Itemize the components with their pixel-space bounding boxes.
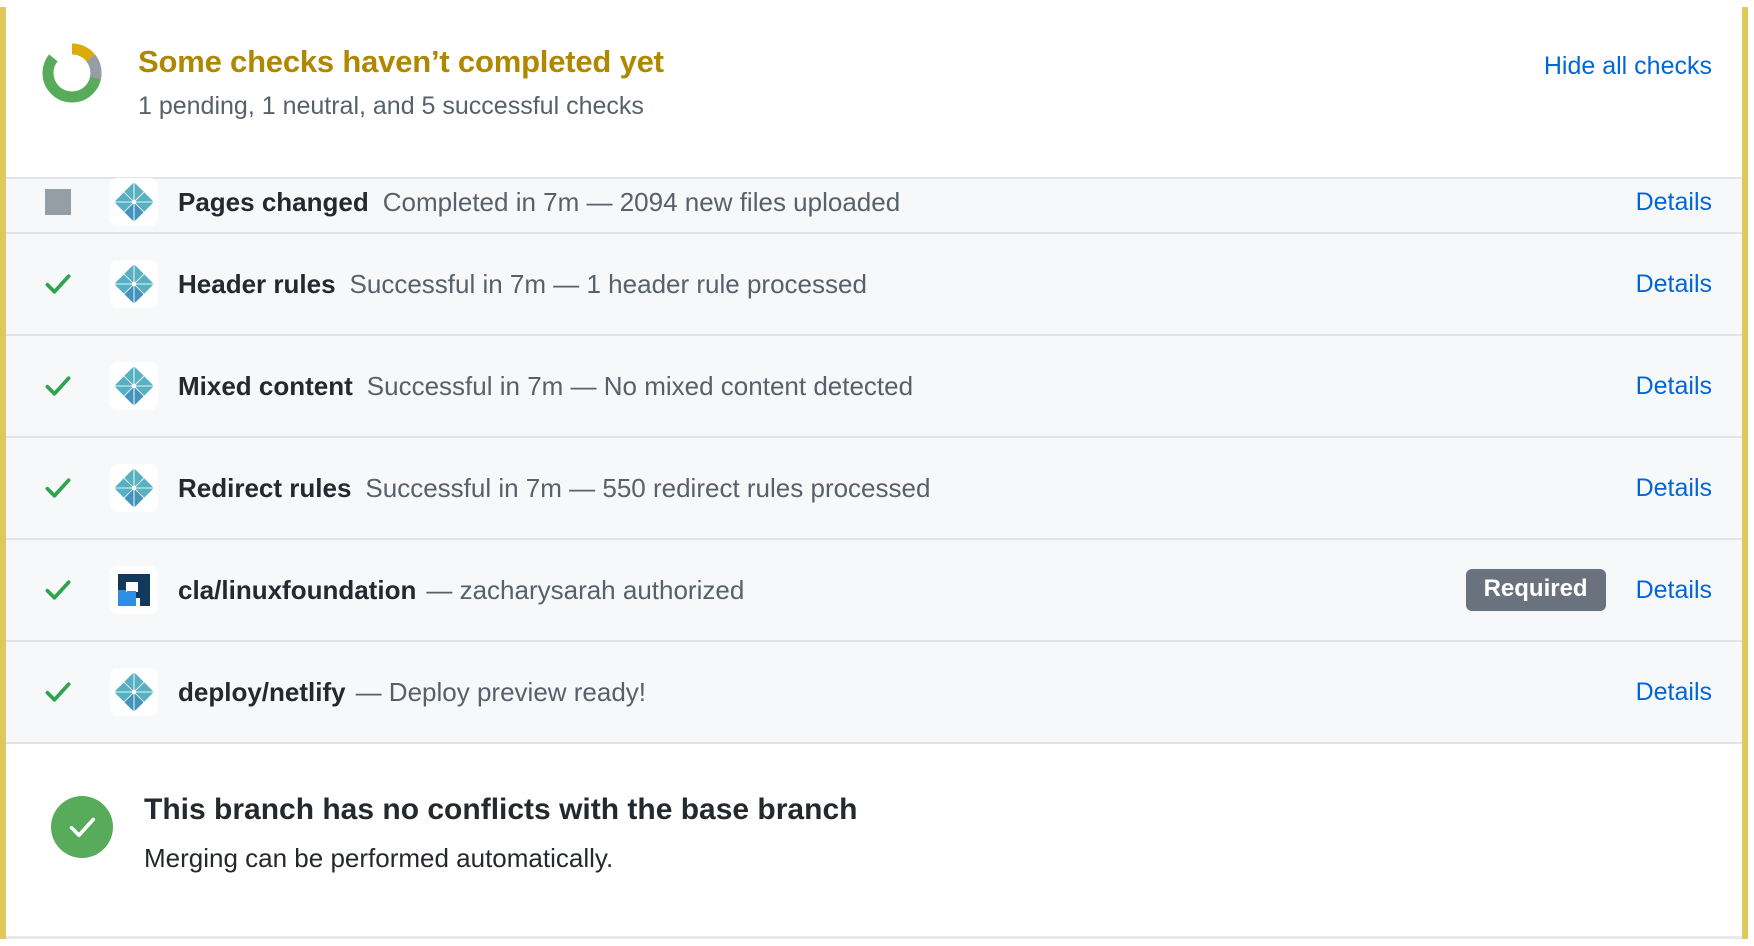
check-row[interactable]: cla/linuxfoundation — zacharysarah autho… [6,540,1742,642]
check-name: Header rules [178,269,336,300]
check-description: Successful in 7m — 1 header rule process… [350,269,867,300]
check-description: Completed in 7m — 2094 new files uploade… [383,187,900,218]
netlify-icon [110,464,158,512]
check-icon [6,675,110,709]
details-link[interactable]: Details [1636,474,1712,503]
check-icon [6,369,110,403]
checks-status-title: Some checks haven’t completed yet [138,43,664,81]
check-name: Mixed content [178,371,353,402]
check-row[interactable]: deploy/netlify — Deploy preview ready! D… [6,642,1742,744]
check-row[interactable]: Mixed content Successful in 7m — No mixe… [6,336,1742,438]
checks-status-subtitle: 1 pending, 1 neutral, and 5 successful c… [138,89,664,123]
checks-list: Pages changed Completed in 7m — 2094 new… [6,177,1742,744]
check-description: — Deploy preview ready! [356,677,646,708]
check-description: Successful in 7m — 550 redirect rules pr… [365,473,930,504]
hide-all-checks-link[interactable]: Hide all checks [1544,52,1712,81]
checks-summary-text: Some checks haven’t completed yet 1 pend… [138,43,664,123]
details-link[interactable]: Details [1636,576,1712,605]
linux-foundation-icon [110,566,158,614]
merge-status-text: This branch has no conflicts with the ba… [144,790,857,876]
required-badge: Required [1466,569,1606,611]
check-icon [6,573,110,607]
details-link[interactable]: Details [1636,270,1712,299]
check-name: deploy/netlify [178,677,346,708]
check-circle-icon [51,796,113,858]
netlify-icon [110,362,158,410]
details-link[interactable]: Details [1636,678,1712,707]
pull-request-merge-box: Some checks haven’t completed yet 1 pend… [0,7,1748,939]
bottom-divider [6,936,1742,939]
check-name: Redirect rules [178,473,351,504]
details-link[interactable]: Details [1636,188,1712,217]
check-name: cla/linuxfoundation [178,575,416,606]
netlify-icon [110,260,158,308]
check-description: Successful in 7m — No mixed content dete… [367,371,913,402]
netlify-icon [110,668,158,716]
check-row[interactable]: Header rules Successful in 7m — 1 header… [6,234,1742,336]
netlify-icon [110,178,158,226]
check-name: Pages changed [178,187,369,218]
merge-status-title: This branch has no conflicts with the ba… [144,790,857,830]
check-row[interactable]: Redirect rules Successful in 7m — 550 re… [6,438,1742,540]
merge-conflict-status: This branch has no conflicts with the ba… [6,744,1742,934]
check-icon [6,471,110,505]
check-icon [6,267,110,301]
neutral-square-icon [6,189,110,215]
pending-donut-icon [40,41,104,105]
check-description: — zacharysarah authorized [426,575,744,606]
details-link[interactable]: Details [1636,372,1712,401]
check-row[interactable]: Pages changed Completed in 7m — 2094 new… [6,179,1742,234]
merge-status-subtitle: Merging can be performed automatically. [144,840,857,876]
